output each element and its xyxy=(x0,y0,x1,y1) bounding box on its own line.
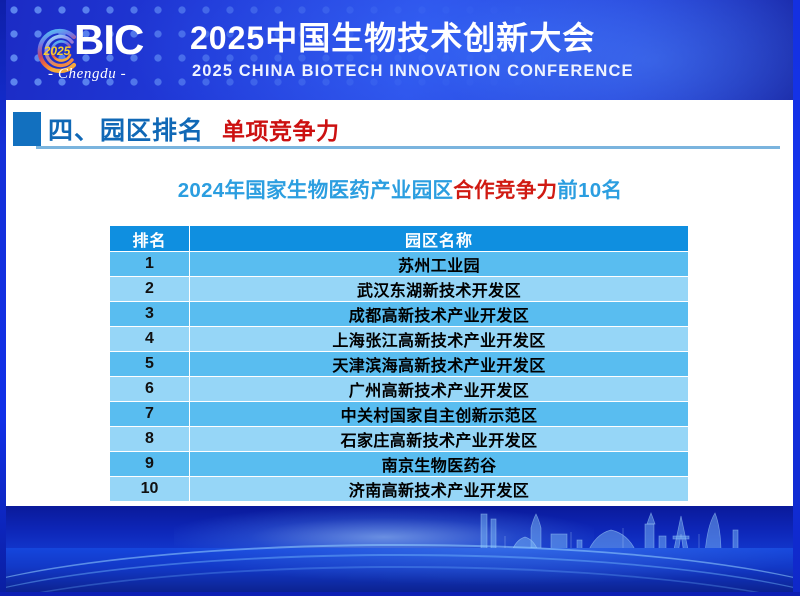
cell-rank: 3 xyxy=(110,302,190,327)
table-row[interactable]: 1苏州工业园 xyxy=(110,252,688,277)
cell-park-name: 石家庄高新技术产业开发区 xyxy=(190,427,688,452)
cell-rank: 4 xyxy=(110,327,190,352)
table-body: 1苏州工业园 2武汉东湖新技术开发区 3成都高新技术产业开发区 4上海张江高新技… xyxy=(110,252,688,502)
table-row[interactable]: 7中关村国家自主创新示范区 xyxy=(110,402,688,427)
section-heading: 四、园区排名 单项竞争力 xyxy=(48,112,340,146)
svg-text:2025: 2025 xyxy=(43,44,71,58)
cell-park-name: 南京生物医药谷 xyxy=(190,452,688,477)
page-border-right xyxy=(793,0,800,596)
cell-rank: 7 xyxy=(110,402,190,427)
ranking-table: 排名 园区名称 1苏州工业园 2武汉东湖新技术开发区 3成都高新技术产业开发区 … xyxy=(110,226,688,502)
footer-cityscape-artwork xyxy=(6,506,793,592)
cell-park-name: 天津滨海高新技术产业开发区 xyxy=(190,352,688,377)
cell-park-name: 广州高新技术产业开发区 xyxy=(190,377,688,402)
table-title-part-2: 前10名 xyxy=(557,179,622,202)
table-title-part-1: 2024年国家生物医药产业园区 xyxy=(178,179,454,202)
table-row[interactable]: 4上海张江高新技术产业开发区 xyxy=(110,327,688,352)
banner-title-english: 2025 CHINA BIOTECH INNOVATION CONFERENCE xyxy=(192,62,634,81)
cell-park-name: 苏州工业园 xyxy=(190,252,688,277)
table-title-highlight: 合作竞争力 xyxy=(453,179,557,202)
section-divider-rule xyxy=(36,146,780,149)
cell-rank: 6 xyxy=(110,377,190,402)
conference-banner: 2025 BIC - Chengdu - 2025中国生物技术创新大会 2025… xyxy=(0,0,800,100)
slide: 2025 BIC - Chengdu - 2025中国生物技术创新大会 2025… xyxy=(0,0,800,596)
section-subtitle-text: 单项竞争力 xyxy=(222,112,340,146)
table-row[interactable]: 8石家庄高新技术产业开发区 xyxy=(110,427,688,452)
table-row[interactable]: 9南京生物医药谷 xyxy=(110,452,688,477)
conference-logo: 2025 BIC - Chengdu - xyxy=(30,22,180,90)
cell-rank: 9 xyxy=(110,452,190,477)
table-row[interactable]: 2武汉东湖新技术开发区 xyxy=(110,277,688,302)
cell-rank: 1 xyxy=(110,252,190,277)
table-row[interactable]: 6广州高新技术产业开发区 xyxy=(110,377,688,402)
section-heading-text: 四、园区排名 xyxy=(48,111,204,147)
column-header-park-name: 园区名称 xyxy=(190,226,688,252)
cell-park-name: 济南高新技术产业开发区 xyxy=(190,477,688,502)
cell-park-name: 武汉东湖新技术开发区 xyxy=(190,277,688,302)
banner-title-chinese: 2025中国生物技术创新大会 xyxy=(190,22,595,56)
section-accent-block xyxy=(13,112,41,146)
logo-acronym: BIC xyxy=(74,19,143,61)
cell-park-name: 上海张江高新技术产业开发区 xyxy=(190,327,688,352)
cell-rank: 2 xyxy=(110,277,190,302)
table-title: 2024年国家生物医药产业园区合作竞争力前10名 xyxy=(0,173,800,203)
table-row[interactable]: 10济南高新技术产业开发区 xyxy=(110,477,688,502)
table-row[interactable]: 3成都高新技术产业开发区 xyxy=(110,302,688,327)
cell-park-name: 成都高新技术产业开发区 xyxy=(190,302,688,327)
cell-rank: 8 xyxy=(110,427,190,452)
column-header-rank: 排名 xyxy=(110,226,190,252)
page-border-left xyxy=(0,0,6,596)
table-row[interactable]: 5天津滨海高新技术产业开发区 xyxy=(110,352,688,377)
cell-rank: 5 xyxy=(110,352,190,377)
logo-city-name: - Chengdu - xyxy=(48,66,126,83)
cell-rank: 10 xyxy=(110,477,190,502)
cell-park-name: 中关村国家自主创新示范区 xyxy=(190,402,688,427)
table-header-row: 排名 园区名称 xyxy=(110,226,688,252)
page-border-bottom xyxy=(0,592,800,596)
